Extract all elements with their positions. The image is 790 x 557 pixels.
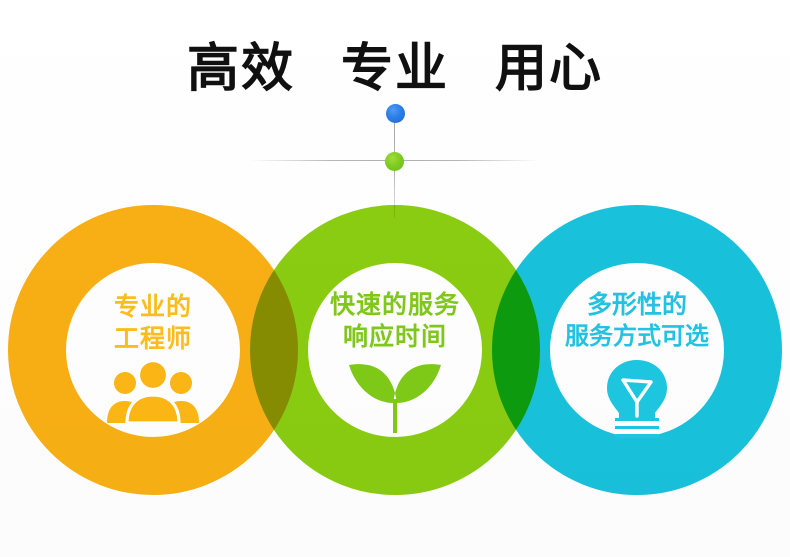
- circle-label-line-2: 服务方式可选: [565, 321, 709, 352]
- people-group-icon: [101, 361, 205, 423]
- circle-label-line-1: 快速的服务: [330, 289, 460, 321]
- icon-slot-service-modes: [492, 358, 782, 438]
- circle-label-line-1: 多形性的: [565, 289, 709, 321]
- poster-canvas: 高效专业用心 专业的 工程师: [0, 0, 790, 557]
- circle-content-service-modes: 多形性的 服务方式可选: [492, 205, 782, 495]
- circle-label-engineers: 专业的 工程师: [114, 291, 192, 355]
- circle-label-line-1: 专业的: [114, 291, 192, 323]
- lightbulb-icon: [599, 358, 675, 438]
- circle-label-service-modes: 多形性的 服务方式可选: [565, 289, 709, 352]
- circle-label-response-time: 快速的服务 响应时间: [330, 289, 460, 353]
- circle-label-line-2: 工程师: [114, 323, 192, 355]
- circle-label-line-2: 响应时间: [330, 321, 460, 353]
- sprout-leaf-icon: [343, 359, 447, 433]
